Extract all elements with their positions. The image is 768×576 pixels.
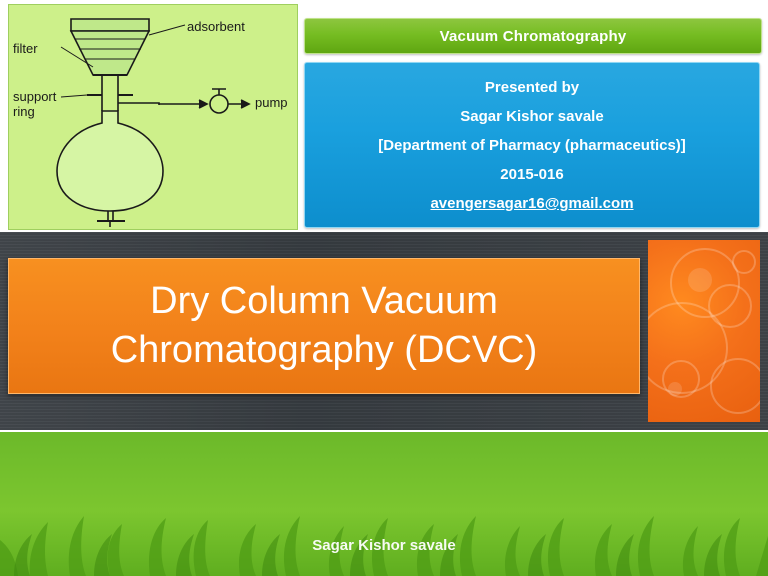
diagram-label-filter: filter [13, 41, 38, 56]
department-label: [Department of Pharmacy (pharmaceutics)] [305, 131, 759, 160]
main-title-box: Dry Column Vacuum Chromatography (DCVC) [8, 258, 640, 394]
bottom-green-band: Sagar Kishor savale [0, 432, 768, 576]
main-title-text: Dry Column Vacuum Chromatography (DCVC) [111, 277, 538, 375]
vacuum-chromatography-diagram: adsorbent filter support ring pump [8, 4, 298, 230]
deco-dot [668, 382, 682, 396]
deco-ring [710, 358, 760, 414]
header-banner-title: Vacuum Chromatography [440, 28, 627, 45]
deco-ring [732, 250, 756, 274]
diagram-label-support-ring: support ring [13, 89, 56, 119]
email-link[interactable]: avengersagar16@gmail.com [305, 189, 759, 218]
grass-silhouette [0, 490, 768, 576]
academic-year: 2015-016 [305, 160, 759, 189]
top-section: adsorbent filter support ring pump Vacuu… [0, 0, 768, 232]
presenter-info-banner: Presented by Sagar Kishor savale [Depart… [304, 62, 760, 228]
author-name: Sagar Kishor savale [305, 102, 759, 131]
orange-decoration-panel [648, 240, 760, 422]
deco-dot [688, 268, 712, 292]
presented-by-label: Presented by [305, 73, 759, 102]
diagram-label-adsorbent: adsorbent [187, 19, 245, 34]
slide-canvas: adsorbent filter support ring pump Vacuu… [0, 0, 768, 576]
header-banner: Vacuum Chromatography [304, 18, 762, 54]
diagram-label-pump: pump [255, 95, 288, 110]
footer-author-name: Sagar Kishor savale [0, 537, 768, 554]
